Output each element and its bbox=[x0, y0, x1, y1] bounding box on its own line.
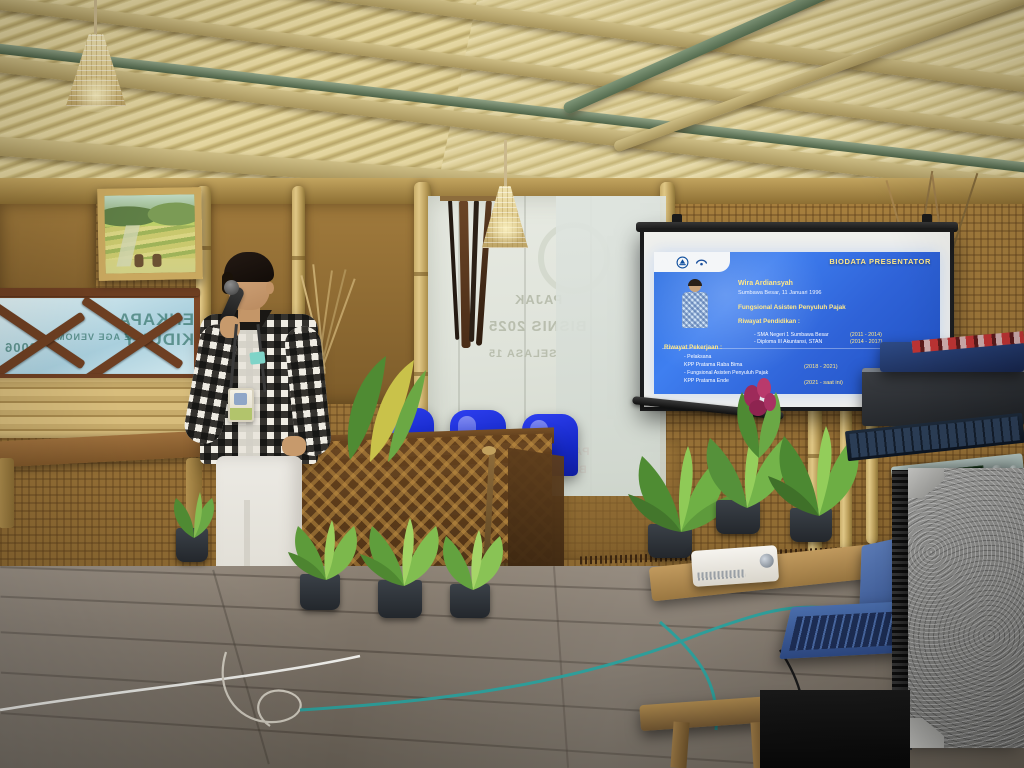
id-badge bbox=[228, 388, 254, 422]
potted-plant bbox=[432, 530, 514, 590]
slide-work-years: (2018 - 2021) bbox=[804, 364, 838, 370]
speaker-corner bbox=[908, 468, 944, 498]
potted-plant bbox=[286, 520, 366, 580]
projector-vent bbox=[697, 569, 745, 580]
slide-work-line: - Pelaksana bbox=[684, 354, 711, 360]
projector-lens bbox=[759, 553, 774, 568]
window-lattice bbox=[0, 292, 200, 380]
slide-education-line: - SMA Negeri 1 Sumbawa Besar bbox=[754, 332, 829, 338]
slide-name: Wira Ardiansyah bbox=[738, 280, 793, 287]
lamp-cord bbox=[94, 0, 97, 36]
microphone-cable bbox=[0, 656, 360, 710]
pa-speaker-cabinet bbox=[908, 468, 1024, 748]
sword-rail bbox=[440, 196, 500, 201]
painting-figure bbox=[152, 254, 161, 267]
stool-leg bbox=[670, 721, 689, 768]
slide-position: Fungsional Asisten Penyuluh Pajak bbox=[738, 304, 846, 311]
slide-birth: Sumbawa Besar, 11 Januari 1996 bbox=[738, 290, 822, 296]
lamp-glow bbox=[486, 214, 526, 244]
ghost-text-3: SELASA 15 bbox=[488, 348, 557, 360]
djp-logo bbox=[695, 256, 708, 269]
photo-body bbox=[682, 292, 708, 328]
speaker-corner bbox=[908, 718, 944, 748]
ghost-text-1: PAJAK bbox=[514, 292, 562, 307]
slide-work-heading: Riwayat Pekerjaan : bbox=[664, 344, 722, 351]
presenter-ear bbox=[266, 282, 274, 294]
badge-stripe bbox=[230, 408, 252, 420]
coiled-cable bbox=[223, 652, 301, 726]
presenter-hand-right bbox=[282, 436, 306, 456]
painting-figure bbox=[134, 254, 143, 267]
shirt-pocket-emblem bbox=[249, 351, 265, 365]
table-post-cap bbox=[482, 446, 496, 455]
lattice-bar bbox=[0, 288, 200, 296]
slide-logo-tab bbox=[654, 252, 730, 272]
badge-photo bbox=[234, 393, 247, 405]
projector bbox=[691, 545, 779, 587]
teal-power-cable bbox=[300, 607, 830, 710]
table-side-drape bbox=[508, 448, 564, 577]
slide-education-line: - Diploma III Akuntansi, STAN bbox=[754, 339, 822, 345]
painting-hill bbox=[148, 202, 202, 226]
photo-scene: ENKAPA KIDUNY DE AGE VENOM 3006 bbox=[0, 0, 1024, 768]
banana-leaf-decor bbox=[336, 352, 426, 462]
speaker-base bbox=[760, 690, 910, 768]
bench-leg bbox=[0, 458, 14, 528]
lamp-glow bbox=[70, 78, 122, 112]
potted-plant bbox=[160, 490, 230, 538]
slide-education-years: (2014 - 2017) bbox=[850, 339, 882, 345]
kemenkeu-logo bbox=[676, 256, 689, 269]
presenter-photo bbox=[680, 280, 710, 328]
laptop-keys bbox=[789, 611, 902, 650]
photo-hair bbox=[688, 279, 702, 286]
slide-education-heading: Riwayat Pendidikan : bbox=[738, 318, 800, 325]
lattice-bar bbox=[81, 296, 184, 369]
slide-header-title: BIODATA PRESENTATOR bbox=[829, 257, 931, 266]
slide-education-years: (2011 - 2014) bbox=[850, 332, 882, 338]
slide-work-years: (2021 - saat ini) bbox=[804, 380, 843, 386]
lamp-cord bbox=[504, 140, 507, 188]
